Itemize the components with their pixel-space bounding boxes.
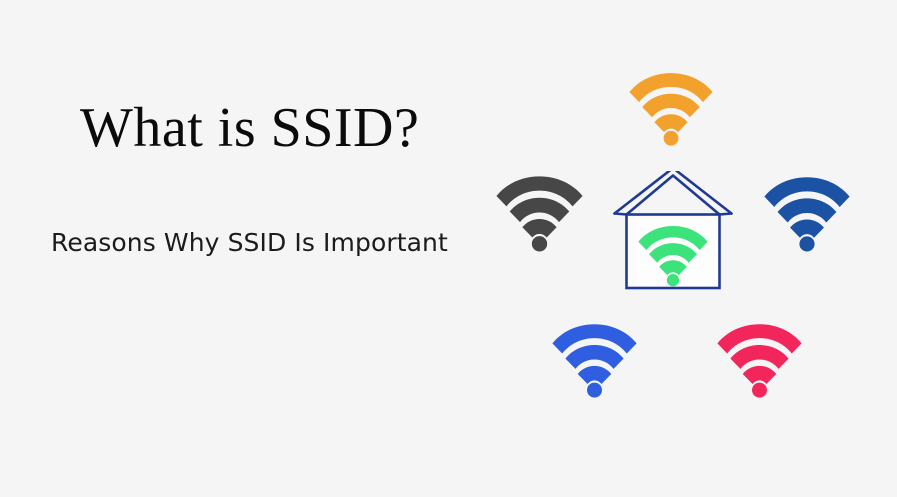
wifi-signal-icon-gray	[496, 169, 583, 256]
home-wifi-house	[610, 171, 736, 293]
wifi-signal-icon-orange	[629, 66, 713, 150]
wifi-signal-icon-pink	[717, 317, 802, 402]
wifi-signal-icon-blue	[552, 317, 637, 402]
wifi-signal-icon-navy	[764, 170, 850, 256]
page-subtitle: Reasons Why SSID Is Important	[51, 227, 448, 259]
page-title: What is SSID?	[80, 96, 419, 160]
poster-canvas: What is SSID? Reasons Why SSID Is Import…	[0, 0, 897, 497]
